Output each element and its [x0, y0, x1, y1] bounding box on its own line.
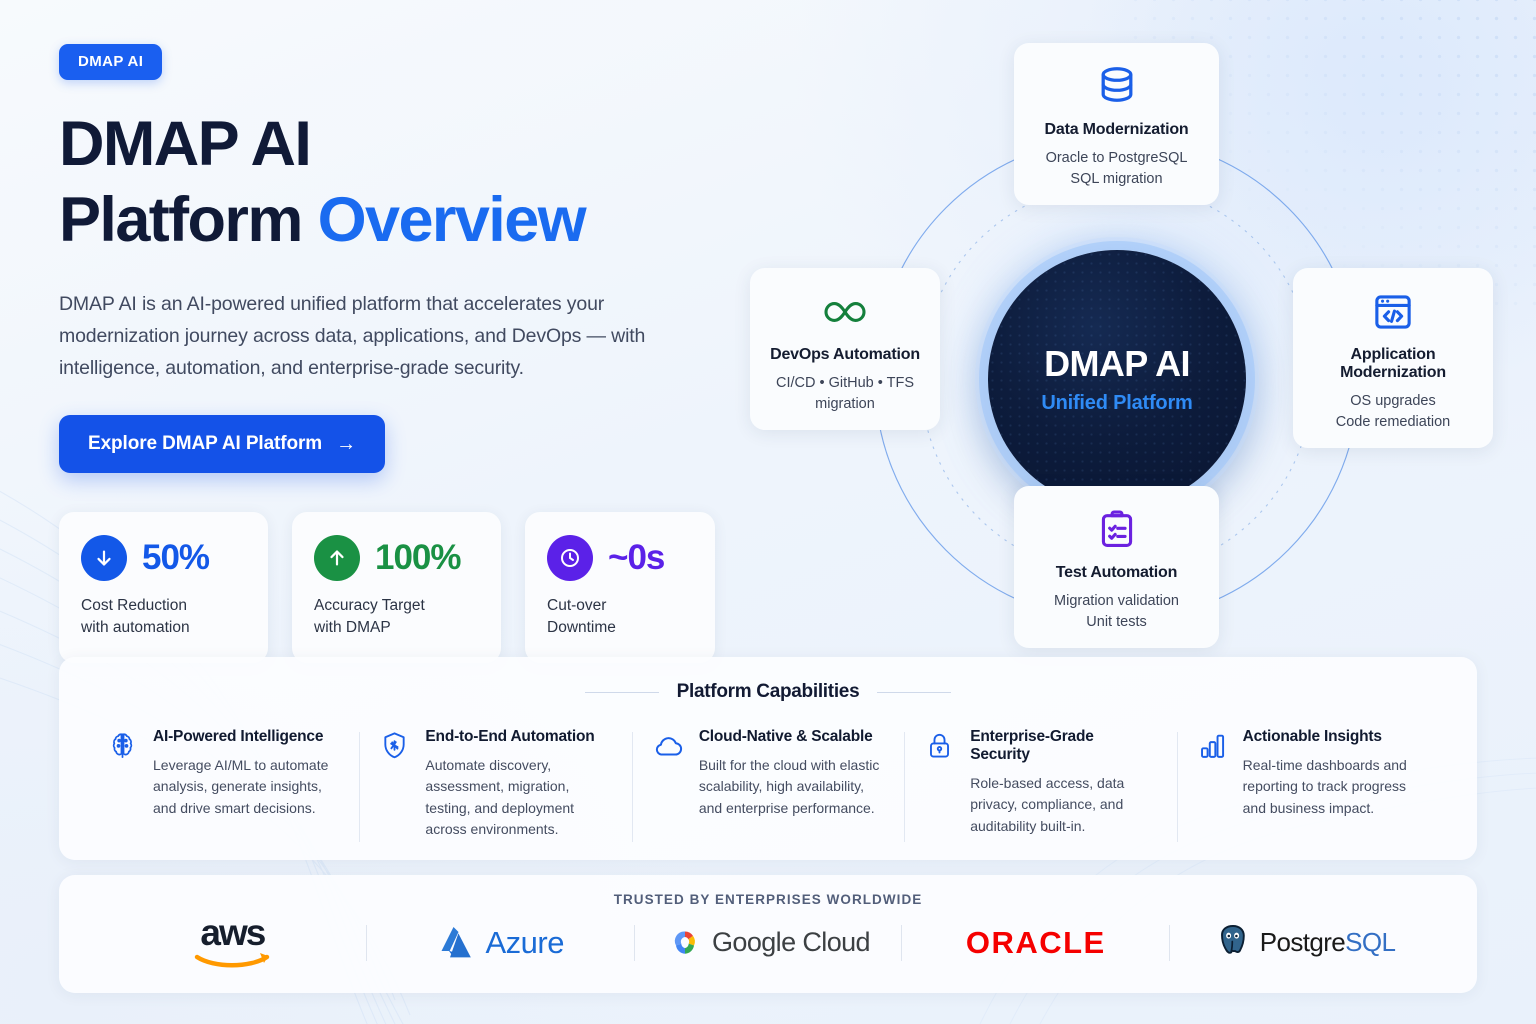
headline-line-1: DMAP AI	[59, 109, 310, 179]
oracle-logo: ORACLE	[902, 915, 1169, 971]
stat-value: 50%	[142, 540, 209, 575]
arrow-up-icon	[314, 535, 360, 581]
postgresql-label-accent: SQL	[1345, 927, 1395, 957]
capabilities-header: Platform Capabilities	[59, 657, 1477, 703]
stats-row: 50% Cost Reduction with automation 100% …	[59, 512, 719, 663]
hub-core-title: DMAP AI	[1044, 343, 1190, 385]
capability-title: Actionable Insights	[1243, 728, 1429, 746]
hub-node-line2: SQL migration	[1028, 169, 1205, 190]
shield-gear-icon	[379, 728, 411, 840]
stat-label-line2: with automation	[81, 617, 246, 639]
capability-title: End-to-End Automation	[425, 728, 611, 746]
bar-chart-icon	[1197, 728, 1229, 840]
arrow-right-icon: →	[336, 434, 356, 454]
hub-node-title: DevOps Automation	[764, 346, 926, 364]
capability-item: AI-Powered Intelligence Leverage AI/ML t…	[87, 728, 359, 840]
hub-node-data-modernization[interactable]: Data Modernization Oracle to PostgreSQL …	[1014, 43, 1219, 205]
postgresql-label-main: Postgre	[1260, 927, 1345, 957]
trusted-by-panel: TRUSTED BY ENTERPRISES WORLDWIDE aws	[59, 875, 1477, 993]
headline-line-2: Platform Overview	[59, 183, 719, 259]
capability-text: Enterprise-Grade Security Role-based acc…	[970, 728, 1156, 840]
platform-capabilities-panel: Platform Capabilities AI-Powered Intelli…	[59, 657, 1477, 860]
hub-core: DMAP AI Unified Platform	[988, 250, 1246, 508]
stat-card: ~0s Cut-over Downtime	[525, 512, 715, 663]
azure-logo-label: Azure	[485, 925, 563, 961]
page-root: DMAP AI DMAP AI Platform Overview DMAP A…	[0, 0, 1536, 1024]
capability-description: Real-time dashboards and reporting to tr…	[1243, 755, 1429, 819]
hub-node-devops-automation[interactable]: DevOps Automation CI/CD • GitHub • TFS m…	[750, 268, 940, 430]
platform-hub-diagram: DMAP AI Unified Platform Data Modernizat…	[742, 28, 1512, 658]
aws-logo: aws	[99, 915, 366, 971]
capability-text: End-to-End Automation Automate discovery…	[425, 728, 611, 840]
hub-node-line1: Migration validation	[1028, 591, 1205, 612]
capability-item: Cloud-Native & Scalable Built for the cl…	[632, 728, 904, 840]
hub-node-line1: Oracle to PostgreSQL	[1028, 148, 1205, 169]
hub-node-title: Test Automation	[1028, 564, 1205, 582]
stat-value: 100%	[375, 540, 461, 575]
hero-section: DMAP AI DMAP AI Platform Overview DMAP A…	[59, 44, 719, 663]
hub-node-line1: OS upgrades	[1307, 391, 1479, 412]
lock-icon	[924, 728, 956, 840]
stat-label-line1: Cut-over	[547, 595, 693, 617]
hub-node-title: Data Modernization	[1028, 121, 1205, 139]
capability-item: End-to-End Automation Automate discovery…	[359, 728, 631, 840]
capability-text: AI-Powered Intelligence Leverage AI/ML t…	[153, 728, 339, 840]
stat-card: 100% Accuracy Target with DMAP	[292, 512, 501, 663]
capabilities-list: AI-Powered Intelligence Leverage AI/ML t…	[59, 703, 1477, 840]
postgresql-logo-label: PostgreSQL	[1260, 927, 1396, 958]
google-cloud-mark-icon	[666, 926, 704, 960]
stat-header: 100%	[314, 535, 479, 581]
clipboard-check-icon	[1028, 504, 1205, 556]
trusted-by-title: TRUSTED BY ENTERPRISES WORLDWIDE	[59, 875, 1477, 907]
hub-node-title: Application Modernization	[1307, 346, 1479, 382]
stat-card: 50% Cost Reduction with automation	[59, 512, 268, 663]
azure-mark-icon	[436, 924, 476, 962]
postgresql-elephant-icon	[1212, 922, 1254, 964]
product-badge: DMAP AI	[59, 44, 162, 80]
explore-platform-button[interactable]: Explore DMAP AI Platform →	[59, 415, 385, 473]
headline-accent: Overview	[318, 185, 585, 255]
capability-description: Built for the cloud with elastic scalabi…	[699, 755, 884, 819]
stat-header: 50%	[81, 535, 246, 581]
stat-label-line2: with DMAP	[314, 617, 479, 639]
database-icon	[1028, 61, 1205, 113]
capability-item: Actionable Insights Real-time dashboards…	[1177, 728, 1449, 840]
stat-label-line1: Accuracy Target	[314, 595, 479, 617]
stat-value: ~0s	[608, 540, 664, 575]
hub-node-line1: CI/CD • GitHub • TFS	[764, 373, 926, 394]
postgresql-logo: PostgreSQL	[1170, 915, 1437, 971]
clock-icon	[547, 535, 593, 581]
capabilities-title: Platform Capabilities	[677, 681, 860, 703]
hub-node-line2: Code remediation	[1307, 412, 1479, 433]
capability-title: AI-Powered Intelligence	[153, 728, 339, 746]
logos-row: aws Azure	[59, 907, 1477, 969]
capability-text: Actionable Insights Real-time dashboards…	[1243, 728, 1429, 840]
stat-label-line1: Cost Reduction	[81, 595, 246, 617]
cta-label: Explore DMAP AI Platform	[88, 433, 322, 455]
stat-label-line2: Downtime	[547, 617, 693, 639]
google-cloud-logo-label: Google Cloud	[712, 927, 870, 958]
brain-icon	[107, 728, 139, 840]
aws-logo-label: aws	[200, 917, 264, 948]
oracle-logo-label: ORACLE	[966, 925, 1106, 961]
page-title: DMAP AI Platform Overview	[59, 107, 719, 258]
hero-description: DMAP AI is an AI-powered unified platfor…	[59, 289, 683, 384]
arrow-down-icon	[81, 535, 127, 581]
capability-item: Enterprise-Grade Security Role-based acc…	[904, 728, 1176, 840]
divider-left	[585, 692, 659, 693]
infinity-icon	[764, 286, 926, 338]
stat-header: ~0s	[547, 535, 693, 581]
capability-title: Cloud-Native & Scalable	[699, 728, 884, 746]
capability-title: Enterprise-Grade Security	[970, 728, 1156, 764]
aws-smile-icon	[194, 948, 270, 968]
capability-description: Role-based access, data privacy, complia…	[970, 773, 1156, 837]
capability-description: Automate discovery, assessment, migratio…	[425, 755, 611, 840]
hub-node-application-modernization[interactable]: Application Modernization OS upgrades Co…	[1293, 268, 1493, 448]
capability-description: Leverage AI/ML to automate analysis, gen…	[153, 755, 339, 819]
capability-text: Cloud-Native & Scalable Built for the cl…	[699, 728, 884, 840]
google-cloud-logo: Google Cloud	[635, 915, 902, 971]
cloud-icon	[652, 728, 685, 840]
azure-logo: Azure	[367, 915, 634, 971]
hub-node-test-automation[interactable]: Test Automation Migration validation Uni…	[1014, 486, 1219, 648]
headline-plain: Platform	[59, 185, 318, 255]
hub-node-line2: Unit tests	[1028, 612, 1205, 633]
hub-core-subtitle: Unified Platform	[1041, 392, 1192, 415]
code-window-icon	[1307, 286, 1479, 338]
hub-node-line2: migration	[764, 394, 926, 415]
divider-right	[877, 692, 951, 693]
